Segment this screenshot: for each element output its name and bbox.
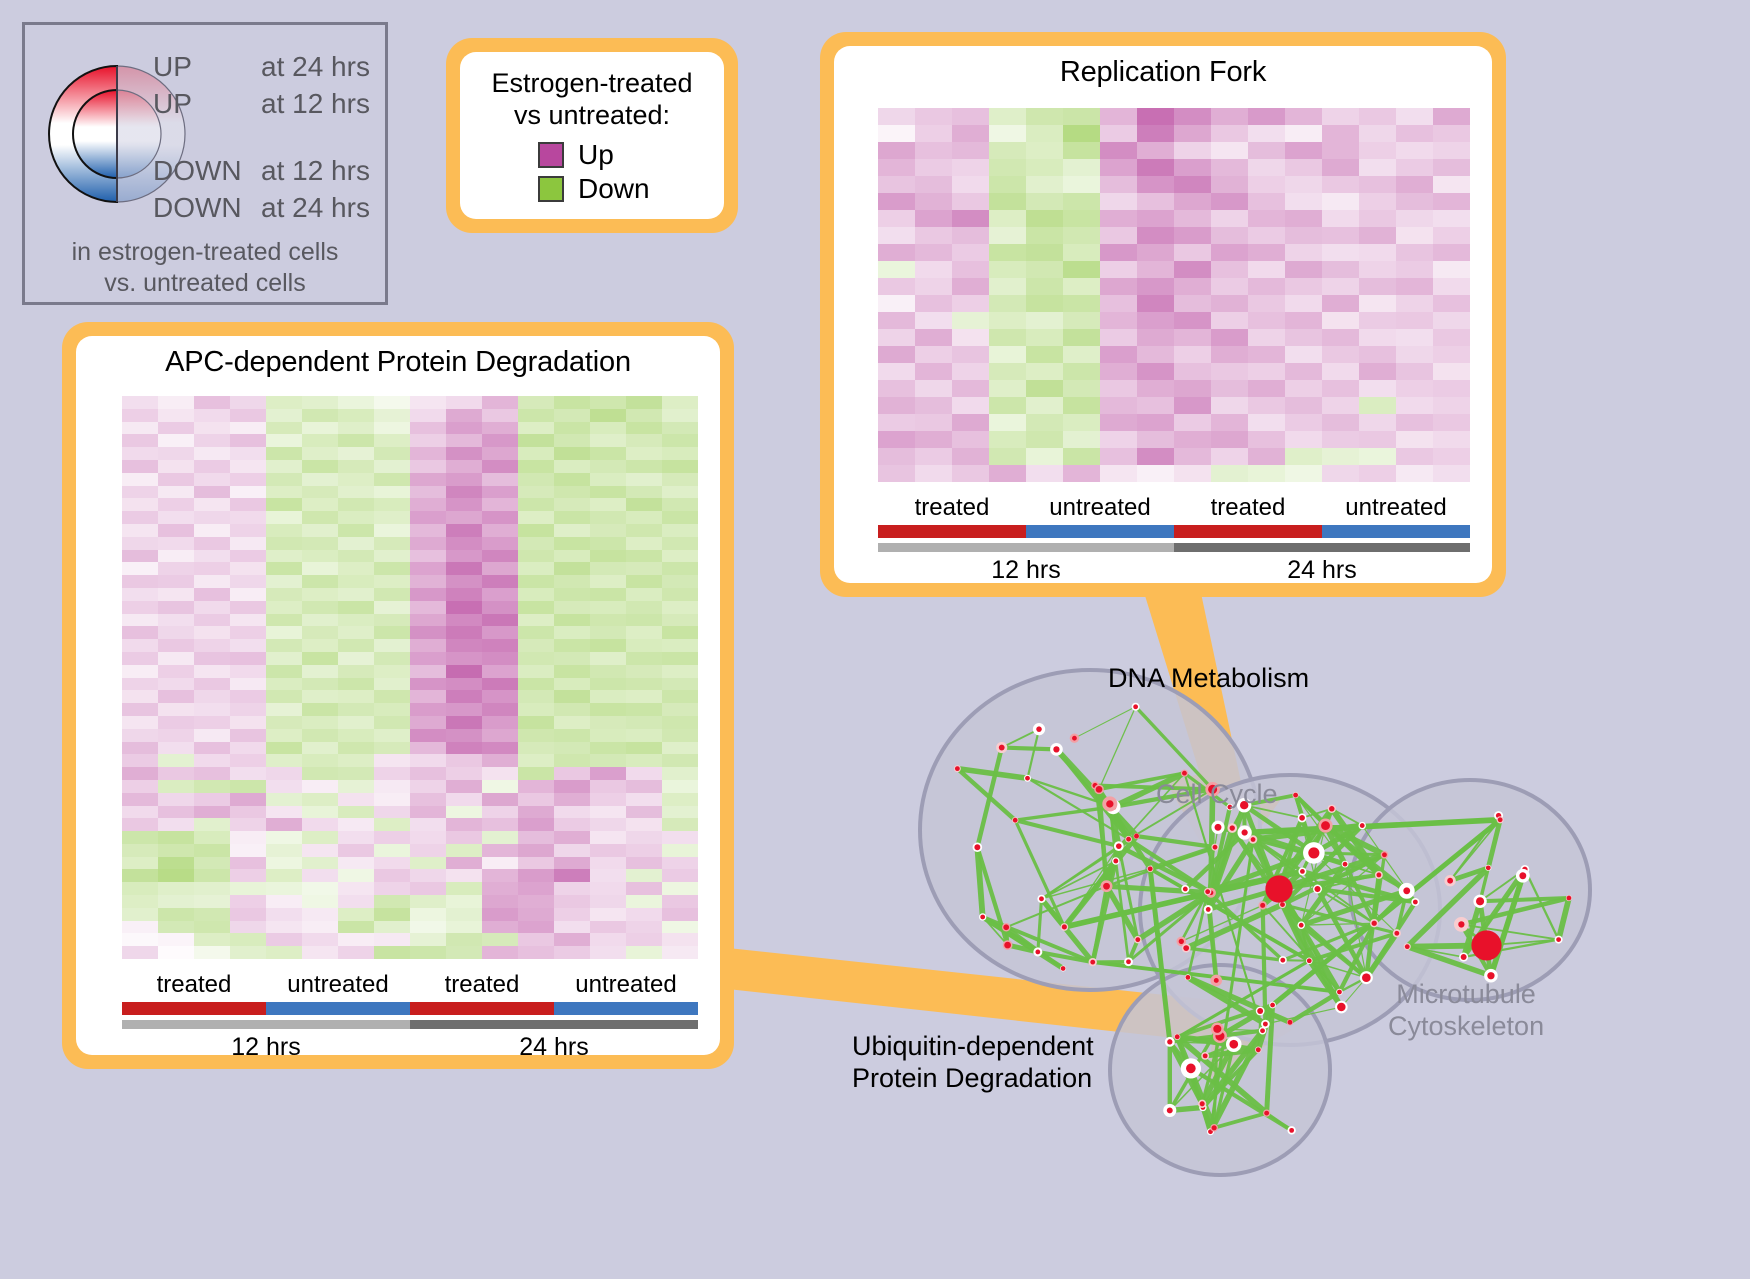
network-node[interactable]	[1101, 880, 1113, 892]
heatmap-cell	[1211, 159, 1248, 176]
heatmap-cell	[482, 729, 518, 742]
network-node[interactable]	[1094, 784, 1104, 794]
heatmap-cell	[1322, 380, 1359, 397]
network-node[interactable]	[1061, 923, 1069, 931]
heatmap-cell	[626, 550, 662, 563]
network-node[interactable]	[1303, 842, 1325, 864]
network-node[interactable]	[1181, 1058, 1201, 1078]
figure-canvas: UP at 24 hrs UP at 12 hrs DOWN at 12 hrs…	[0, 0, 1750, 1279]
heatmap-cell	[446, 588, 482, 601]
network-node[interactable]	[1002, 923, 1010, 931]
network-node[interactable]	[1497, 816, 1504, 823]
heatmap-cell	[554, 818, 590, 831]
heatmap-cell	[1322, 244, 1359, 261]
heatmap-cell	[1211, 312, 1248, 329]
heatmap-cell	[626, 767, 662, 780]
heatmap-cell	[446, 601, 482, 614]
network-node[interactable]	[1359, 822, 1366, 829]
heatmap-cell	[952, 227, 989, 244]
heatmap-cell	[1211, 193, 1248, 210]
heatmap-cell	[410, 946, 446, 959]
heatmap-cell	[1396, 295, 1433, 312]
heatmap-cell	[662, 460, 698, 473]
network-node[interactable]	[1566, 895, 1572, 901]
network-edge	[1002, 748, 1057, 750]
heatmap-cell	[482, 844, 518, 857]
heatmap-cell	[662, 857, 698, 870]
network-node[interactable]	[1227, 823, 1237, 833]
network-node[interactable]	[1204, 905, 1213, 914]
heatmap-cell	[482, 486, 518, 499]
heatmap-cell	[1248, 261, 1285, 278]
heatmap-cell	[1433, 448, 1470, 465]
heatmap-cell	[410, 575, 446, 588]
heatmap-cell	[266, 678, 302, 691]
network-node[interactable]	[1328, 805, 1336, 813]
heatmap-cell	[1396, 108, 1433, 125]
heatmap-cell	[482, 639, 518, 652]
heatmap-cell	[989, 159, 1026, 176]
network-node[interactable]	[1259, 1027, 1266, 1034]
network-node[interactable]	[1050, 743, 1063, 756]
network-node[interactable]	[1024, 775, 1031, 782]
heatmap-cell	[662, 524, 698, 537]
heatmap-cell	[626, 524, 662, 537]
heatmap-cell	[1396, 380, 1433, 397]
heatmap-cell	[302, 716, 338, 729]
heatmap-cell	[1322, 176, 1359, 193]
network-node[interactable]	[1181, 885, 1189, 893]
heatmap-cell	[662, 729, 698, 742]
heatmap-cell	[590, 869, 626, 882]
heatmap-cell	[1174, 312, 1211, 329]
heatmap-cell	[158, 716, 194, 729]
network-node[interactable]	[1292, 792, 1298, 798]
heatmap-cell	[1174, 261, 1211, 278]
network-node[interactable]	[1318, 818, 1332, 832]
heatmap-cell	[302, 703, 338, 716]
network-node[interactable]	[1375, 871, 1383, 879]
heatmap-cell	[194, 857, 230, 870]
heatmap-cell	[338, 665, 374, 678]
heatmap-cell	[338, 716, 374, 729]
network-node[interactable]	[1003, 940, 1013, 950]
network-node[interactable]	[1454, 917, 1469, 932]
heatmap-cell	[554, 703, 590, 716]
heatmap-cell	[915, 193, 952, 210]
heatmap-cell	[446, 498, 482, 511]
heatmap-cell	[338, 857, 374, 870]
heatmap-cell	[590, 601, 626, 614]
heatmap-cell	[1211, 380, 1248, 397]
network-node[interactable]	[1174, 1034, 1180, 1040]
heatmap-cell	[446, 754, 482, 767]
heatmap-cell	[482, 562, 518, 575]
heatmap-cell	[518, 473, 554, 486]
network-node[interactable]	[1211, 821, 1224, 834]
heatmap-cell	[626, 396, 662, 409]
heatmap-cell	[230, 908, 266, 921]
heatmap-cell	[482, 831, 518, 844]
network-node[interactable]	[1298, 813, 1307, 822]
network-node[interactable]	[1211, 1023, 1224, 1036]
heatmap-cell	[989, 227, 1026, 244]
heatmap-cell	[554, 422, 590, 435]
heatmap-cell	[518, 511, 554, 524]
network-node[interactable]	[1211, 844, 1218, 851]
heatmap-cell	[554, 767, 590, 780]
heatmap-cell	[1433, 261, 1470, 278]
heatmap-cell	[374, 550, 410, 563]
heatmap-cell	[158, 460, 194, 473]
heatmap-cell	[302, 562, 338, 575]
heatmap-cell	[626, 818, 662, 831]
network-node[interactable]	[1256, 1007, 1265, 1016]
apc-treatment-bar	[122, 1002, 698, 1015]
heatmap-cell	[374, 396, 410, 409]
network-node[interactable]	[1226, 1036, 1242, 1052]
heatmap-cell	[374, 422, 410, 435]
heatmap-cell	[989, 142, 1026, 159]
network-node[interactable]	[996, 742, 1007, 753]
heatmap-cell	[302, 754, 338, 767]
heatmap-cell	[1359, 295, 1396, 312]
network-node[interactable]	[1182, 944, 1191, 953]
heatmap-cell	[554, 486, 590, 499]
network-node[interactable]	[1198, 1100, 1206, 1108]
heatmap-cell	[194, 588, 230, 601]
network-node[interactable]	[1132, 703, 1140, 711]
heatmap-cell	[194, 716, 230, 729]
heatmap-cell	[482, 575, 518, 588]
network-node[interactable]	[1265, 875, 1292, 902]
network-node[interactable]	[1033, 723, 1045, 735]
heatmap-cell	[410, 767, 446, 780]
network-node[interactable]	[1201, 1052, 1209, 1060]
heatmap-cell	[1285, 397, 1322, 414]
network-node[interactable]	[1297, 921, 1305, 929]
network-node[interactable]	[1033, 947, 1042, 956]
heatmap-cell	[554, 793, 590, 806]
heatmap-cell	[1285, 346, 1322, 363]
network-node[interactable]	[1012, 817, 1018, 823]
heatmap-cell	[482, 422, 518, 435]
network-node[interactable]	[1471, 930, 1501, 960]
heatmap-cell	[194, 933, 230, 946]
heatmap-cell	[554, 498, 590, 511]
heatmap-cell	[1433, 363, 1470, 380]
heatmap-cell	[1248, 108, 1285, 125]
network-node[interactable]	[1381, 851, 1389, 859]
heatmap-cell	[410, 447, 446, 460]
heatmap-cell	[554, 524, 590, 537]
heatmap-cell	[1100, 125, 1137, 142]
network-node[interactable]	[1393, 929, 1401, 937]
heatmap-cell	[158, 857, 194, 870]
heatmap-cell	[1359, 159, 1396, 176]
network-node[interactable]	[1516, 869, 1530, 883]
heatmap-cell	[590, 908, 626, 921]
heatmap-cell	[194, 767, 230, 780]
ubiquitin-label-line1: Ubiquitin-dependent	[852, 1030, 1094, 1062]
heatmap-cell	[1396, 261, 1433, 278]
network-node[interactable]	[1124, 957, 1133, 966]
network-svg	[790, 600, 1730, 1270]
heatmap-cell	[554, 396, 590, 409]
heatmap-cell	[410, 486, 446, 499]
heatmap-cell	[1433, 278, 1470, 295]
heatmap-cell	[122, 562, 158, 575]
heatmap-cell	[590, 690, 626, 703]
network-node[interactable]	[1473, 895, 1486, 908]
network-node[interactable]	[1258, 901, 1266, 909]
heatmap-cell	[338, 460, 374, 473]
heatmap-cell	[410, 396, 446, 409]
heatmap-cell	[122, 754, 158, 767]
network-node[interactable]	[1306, 957, 1313, 964]
network-node[interactable]	[1263, 1109, 1270, 1116]
key-row: UP at 12 hrs	[153, 88, 370, 125]
heatmap-cell	[1359, 448, 1396, 465]
heatmap-cell	[482, 742, 518, 755]
heatmap-cell	[482, 447, 518, 460]
key-time: at 12 hrs	[261, 155, 370, 187]
network-node[interactable]	[1114, 841, 1124, 851]
heatmap-cell	[518, 716, 554, 729]
heatmap-cell	[1100, 397, 1137, 414]
network-node[interactable]	[1134, 936, 1141, 943]
network-node[interactable]	[1163, 1104, 1176, 1117]
heatmap-cell	[410, 742, 446, 755]
network-node[interactable]	[1102, 796, 1117, 811]
heatmap-cell	[374, 793, 410, 806]
key-direction: DOWN	[153, 192, 261, 224]
heatmap-cell	[446, 933, 482, 946]
network-node[interactable]	[1249, 835, 1258, 844]
heatmap-cell	[662, 946, 698, 959]
heatmap-cell	[230, 460, 266, 473]
network-node[interactable]	[1165, 1037, 1175, 1047]
heatmap-cell	[1100, 346, 1137, 363]
network-node[interactable]	[1089, 958, 1097, 966]
heatmap-cell	[230, 550, 266, 563]
heatmap-cell	[590, 844, 626, 857]
network-node[interactable]	[1287, 1019, 1293, 1025]
heatmap-cell	[338, 601, 374, 614]
heatmap-cell	[410, 895, 446, 908]
heatmap-cell	[1174, 159, 1211, 176]
heatmap-cell	[662, 806, 698, 819]
heatmap-cell	[266, 601, 302, 614]
heatmap-cell	[1396, 227, 1433, 244]
network-node[interactable]	[1134, 833, 1140, 839]
heatmap-cell	[1322, 346, 1359, 363]
heatmap-cell	[410, 588, 446, 601]
heatmap-cell	[230, 869, 266, 882]
heatmap-cell	[1026, 448, 1063, 465]
heatmap-cell	[1026, 193, 1063, 210]
heatmap-cell	[482, 946, 518, 959]
heatmap-cell	[122, 486, 158, 499]
heatmap-cell	[230, 626, 266, 639]
heatmap-cell	[518, 498, 554, 511]
heatmap-cell	[338, 703, 374, 716]
heatmap-cell	[158, 601, 194, 614]
heatmap-cell	[626, 511, 662, 524]
heatmap-cell	[302, 614, 338, 627]
heatmap-cell	[952, 142, 989, 159]
heatmap-cell	[194, 447, 230, 460]
heatmap-cell	[626, 601, 662, 614]
network-node[interactable]	[1112, 857, 1120, 865]
heatmap-cell	[590, 921, 626, 934]
heatmap-cell	[1211, 448, 1248, 465]
treatment-bar-segment	[410, 1002, 554, 1015]
heatmap-cell	[266, 818, 302, 831]
heatmap-cell	[662, 703, 698, 716]
heatmap-cell	[662, 690, 698, 703]
network-node[interactable]	[1147, 866, 1153, 872]
heatmap-cell	[1322, 261, 1359, 278]
heatmap-cell	[122, 588, 158, 601]
heatmap-cell	[122, 716, 158, 729]
heatmap-cell	[482, 690, 518, 703]
time-label: 24 hrs	[1174, 556, 1470, 583]
network-node[interactable]	[1444, 875, 1455, 886]
heatmap-cell	[1396, 397, 1433, 414]
heatmap-cell	[338, 575, 374, 588]
network-node[interactable]	[1360, 971, 1373, 984]
heatmap-cell	[1359, 125, 1396, 142]
network-node[interactable]	[1255, 1046, 1262, 1053]
network-node[interactable]	[1037, 895, 1045, 903]
heatmap-cell	[915, 159, 952, 176]
network-node[interactable]	[1269, 1002, 1276, 1009]
heatmap-cell	[482, 933, 518, 946]
heatmap-cell	[554, 946, 590, 959]
heatmap-cell	[590, 946, 626, 959]
heatmap-cell	[374, 460, 410, 473]
network-node[interactable]	[1342, 861, 1349, 868]
network-node[interactable]	[1298, 867, 1306, 875]
heatmap-cell	[518, 614, 554, 627]
heatmap-cell	[662, 447, 698, 460]
heatmap-cell	[1063, 176, 1100, 193]
heatmap-cell	[1322, 125, 1359, 142]
network-node[interactable]	[973, 842, 983, 852]
heatmap-cell	[266, 921, 302, 934]
heatmap-cell	[518, 550, 554, 563]
heatmap-cell	[230, 601, 266, 614]
network-node[interactable]	[979, 913, 986, 920]
network-node[interactable]	[1404, 943, 1411, 950]
network-node[interactable]	[1185, 974, 1191, 980]
heatmap-cell	[266, 844, 302, 857]
network-node[interactable]	[1125, 836, 1132, 843]
network-node[interactable]	[1335, 1001, 1348, 1014]
group-label: untreated	[1026, 494, 1174, 522]
network-node[interactable]	[954, 765, 961, 772]
heatmap-cell	[590, 511, 626, 524]
heatmap-cell	[626, 562, 662, 575]
heatmap-cell	[1359, 397, 1396, 414]
heatmap-cell	[410, 716, 446, 729]
heatmap-cell	[554, 588, 590, 601]
heatmap-cell	[1433, 244, 1470, 261]
network-node[interactable]	[1370, 919, 1378, 927]
network-node[interactable]	[1211, 975, 1223, 987]
heatmap-cell	[1285, 142, 1322, 159]
heatmap-cell	[482, 869, 518, 882]
expression-direction-key: UP at 24 hrs UP at 12 hrs DOWN at 12 hrs…	[22, 22, 388, 305]
network-node[interactable]	[1204, 888, 1211, 895]
network-node[interactable]	[1459, 952, 1468, 961]
network-node[interactable]	[1411, 898, 1419, 906]
heatmap-cell	[554, 447, 590, 460]
apc-degradation-panel: APC-dependent Protein Degradation treate…	[62, 322, 734, 1069]
network-node[interactable]	[1555, 936, 1563, 944]
heatmap-cell	[1322, 312, 1359, 329]
heatmap-cell	[410, 614, 446, 627]
heatmap-cell	[338, 396, 374, 409]
heatmap-cell	[302, 908, 338, 921]
network-node[interactable]	[1181, 770, 1188, 777]
heatmap-cell	[1322, 210, 1359, 227]
network-node[interactable]	[1287, 1126, 1295, 1134]
heatmap-cell	[1359, 227, 1396, 244]
network-node[interactable]	[1070, 733, 1079, 742]
heatmap-cell	[626, 703, 662, 716]
heatmap-cell	[590, 678, 626, 691]
network-node[interactable]	[1210, 1124, 1218, 1132]
network-node[interactable]	[1313, 885, 1322, 894]
heatmap-cell	[338, 486, 374, 499]
heatmap-cell	[1396, 346, 1433, 363]
heatmap-cell	[1285, 295, 1322, 312]
network-node[interactable]	[1336, 989, 1343, 996]
heatmap-cell	[1063, 431, 1100, 448]
heatmap-cell	[626, 933, 662, 946]
network-node[interactable]	[1399, 883, 1415, 899]
heatmap-cell	[266, 754, 302, 767]
heatmap-cell	[266, 716, 302, 729]
heatmap-cell	[1026, 210, 1063, 227]
replication-fork-panel: Replication Fork treateduntreatedtreated…	[820, 32, 1506, 597]
heatmap-cell	[915, 329, 952, 346]
heatmap-cell	[158, 511, 194, 524]
network-node[interactable]	[1485, 865, 1491, 871]
network-node[interactable]	[1060, 965, 1066, 971]
heatmap-cell	[1026, 363, 1063, 380]
heatmap-cell	[1396, 448, 1433, 465]
heatmap-cell	[1433, 431, 1470, 448]
heatmap-cell	[1322, 159, 1359, 176]
heatmap-cell	[374, 601, 410, 614]
network-node[interactable]	[1279, 956, 1287, 964]
heatmap-cell	[374, 678, 410, 691]
heatmap-cell	[662, 511, 698, 524]
treatment-bar-segment	[1322, 525, 1470, 538]
heatmap-cell	[1359, 142, 1396, 159]
heatmap-cell	[1396, 244, 1433, 261]
heatmap-cell	[878, 227, 915, 244]
heatmap-cell	[1063, 414, 1100, 431]
heatmap-cell	[266, 626, 302, 639]
heatmap-cell	[266, 422, 302, 435]
heatmap-cell	[626, 882, 662, 895]
heatmap-cell	[1285, 465, 1322, 482]
heatmap-cell	[590, 716, 626, 729]
